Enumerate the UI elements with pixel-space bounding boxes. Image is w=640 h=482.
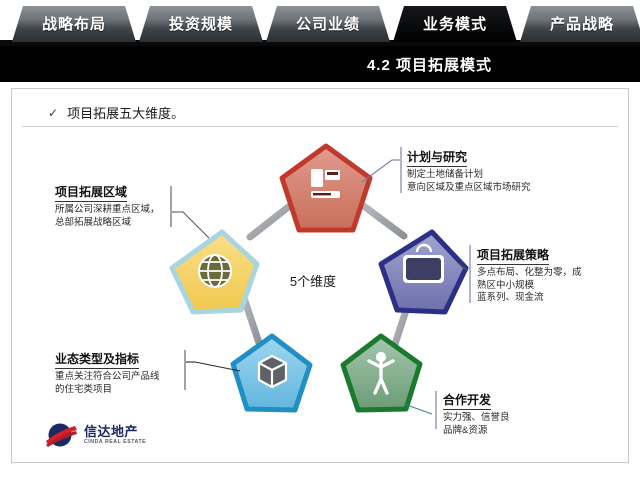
- tab-label: 公司业绩: [296, 13, 360, 34]
- tab-label: 产品战略: [550, 13, 614, 34]
- logo-text: 信达地产 CINDA REAL ESTATE: [84, 425, 146, 445]
- cinda-logo-icon: [42, 422, 78, 448]
- slide-root: 战略布局 投资规模 公司业绩 业务模式 产品战略 4.2 项目拓展模式 ✓ 项目…: [0, 0, 640, 482]
- callout-title: 计划与研究: [407, 150, 467, 167]
- tab-bar: 战略布局 投资规模 公司业绩 业务模式 产品战略: [0, 0, 640, 46]
- callout-plan-research: 计划与研究 制定土地储备计划 意向区域及重点区域市场研究: [407, 148, 531, 194]
- tab-business-model[interactable]: 业务模式: [393, 6, 517, 42]
- tab-investment-scale[interactable]: 投资规模: [139, 6, 263, 42]
- diagram-center-label: 5个维度: [258, 271, 368, 290]
- callout-business-type: 业态类型及指标 重点关注符合公司产品线 的住宅类项目: [55, 350, 160, 396]
- bullet-item: ✓ 项目拓展五大维度。: [48, 103, 184, 122]
- callout-line: 所属公司深耕重点区域，: [55, 204, 160, 217]
- tab-product-strategy[interactable]: 产品战略: [520, 6, 640, 42]
- callout-title: 业态类型及指标: [55, 352, 139, 369]
- callout-line: 的住宅类项目: [55, 384, 160, 397]
- page-title: 4.2 项目拓展模式: [367, 54, 492, 75]
- tab-label: 业务模式: [423, 13, 487, 34]
- logo-name-en: CINDA REAL ESTATE: [84, 440, 146, 445]
- callout-line: 实力强、信誉良: [443, 412, 510, 425]
- callout-title: 项目拓展区域: [55, 185, 127, 202]
- globe-icon: [199, 255, 231, 287]
- callout-line: 制定土地储备计划: [407, 169, 531, 182]
- section-title-bar: 4.2 项目拓展模式: [0, 46, 640, 82]
- callout-title: 合作开发: [443, 393, 491, 410]
- callout-line: 品牌&资源: [443, 425, 510, 438]
- callout-cooperative-development: 合作开发 实力强、信誉良 品牌&资源: [443, 391, 510, 437]
- tab-label: 投资规模: [169, 13, 233, 34]
- callout-line: 总部拓展战略区域: [55, 217, 160, 230]
- company-logo: 信达地产 CINDA REAL ESTATE: [42, 422, 146, 448]
- tab-company-performance[interactable]: 公司业绩: [266, 6, 390, 42]
- check-icon: ✓: [48, 106, 58, 120]
- callout-line: 意向区域及重点区域市场研究: [407, 182, 531, 195]
- cube-icon: [259, 356, 286, 387]
- callout-line: 多点布局、化整为零，成: [477, 267, 582, 280]
- callout-expansion-strategy: 项目拓展策略 多点布局、化整为零，成 熟区中小规模 蓝系列、现金流: [477, 246, 582, 305]
- divider: [22, 126, 618, 127]
- callout-expansion-area: 项目拓展区域 所属公司深耕重点区域， 总部拓展战略区域: [55, 183, 160, 229]
- logo-name-cn: 信达地产: [84, 425, 146, 438]
- callout-line: 熟区中小规模: [477, 280, 582, 293]
- tab-label: 战略布局: [42, 13, 106, 34]
- callout-line: 重点关注符合公司产品线: [55, 371, 160, 384]
- callout-title: 项目拓展策略: [477, 248, 549, 265]
- tab-strategy-layout[interactable]: 战略布局: [12, 6, 136, 42]
- bullet-text: 项目拓展五大维度。: [67, 103, 184, 122]
- callout-line: 蓝系列、现金流: [477, 292, 582, 305]
